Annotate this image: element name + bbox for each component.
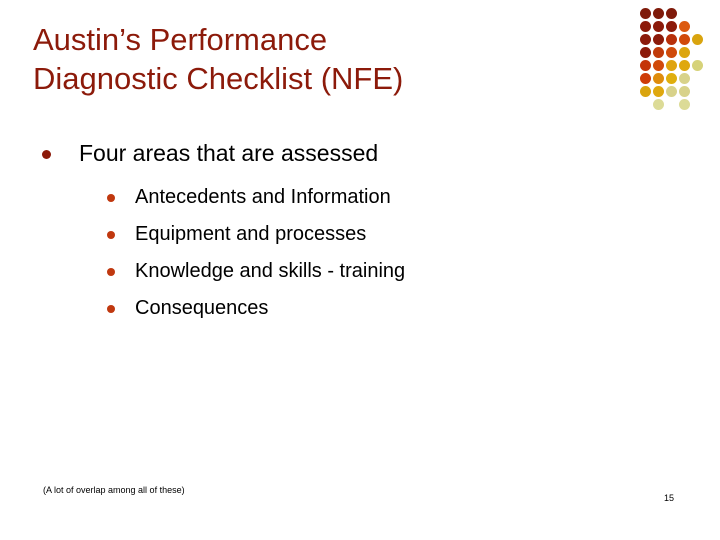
decoration-dot: [679, 47, 690, 58]
decoration-dot: [640, 73, 651, 84]
decoration-dot: [640, 86, 651, 97]
decoration-dot: [653, 34, 664, 45]
decoration-dot: [679, 86, 690, 97]
footnote-text: (A lot of overlap among all of these): [43, 484, 185, 496]
decoration-dot: [666, 21, 677, 32]
title-line-2: Diagnostic Checklist (NFE): [33, 59, 603, 98]
bullet-level1-label: Four areas that are assessed: [79, 140, 378, 166]
bullet-item-level1: Four areas that are assessed: [36, 137, 636, 170]
decoration-dot: [666, 86, 677, 97]
decoration-dot: [679, 21, 690, 32]
bullet-level2-label: Consequences: [135, 297, 268, 319]
bullet-level2-label: Knowledge and skills - training: [135, 260, 405, 282]
decoration-dot: [653, 47, 664, 58]
decoration-dot: [640, 47, 651, 58]
decoration-dot: [692, 60, 703, 71]
decoration-dot: [653, 8, 664, 19]
title-line-1: Austin’s Performance: [33, 20, 603, 59]
decoration-dot: [666, 8, 677, 19]
disc-bullet-icon: [42, 150, 51, 159]
bullet-item-level2: Consequences: [36, 290, 636, 327]
decoration-dot: [640, 34, 651, 45]
decoration-dot: [692, 34, 703, 45]
bullet-level2-label: Antecedents and Information: [135, 186, 391, 208]
disc-bullet-icon: [107, 194, 115, 202]
decoration-dot: [679, 34, 690, 45]
decoration-dot: [679, 73, 690, 84]
disc-bullet-icon: [107, 268, 115, 276]
decoration-dot: [666, 34, 677, 45]
page-number: 15: [664, 492, 674, 504]
decoration-dot: [666, 47, 677, 58]
decoration-dot: [653, 21, 664, 32]
page-title: Austin’s Performance Diagnostic Checklis…: [33, 20, 603, 98]
dot-matrix-decoration: [640, 8, 710, 126]
decoration-dot: [640, 8, 651, 19]
decoration-dot: [640, 21, 651, 32]
slide-canvas: Austin’s Performance Diagnostic Checklis…: [0, 0, 720, 540]
slide-body: Four areas that are assessed Antecedents…: [36, 137, 636, 327]
decoration-dot: [679, 99, 690, 110]
decoration-dot: [666, 73, 677, 84]
disc-bullet-icon: [107, 305, 115, 313]
disc-bullet-icon: [107, 231, 115, 239]
decoration-dot: [653, 73, 664, 84]
decoration-dot: [653, 99, 664, 110]
bullet-item-level2: Antecedents and Information: [36, 179, 636, 216]
bullet-item-level2: Knowledge and skills - training: [36, 253, 636, 290]
decoration-dot: [640, 60, 651, 71]
decoration-dot: [653, 86, 664, 97]
bullet-item-level2: Equipment and processes: [36, 216, 636, 253]
bullet-level2-label: Equipment and processes: [135, 223, 366, 245]
decoration-dot: [653, 60, 664, 71]
bullet-sublist: Antecedents and InformationEquipment and…: [36, 179, 636, 327]
decoration-dot: [679, 60, 690, 71]
decoration-dot: [666, 60, 677, 71]
